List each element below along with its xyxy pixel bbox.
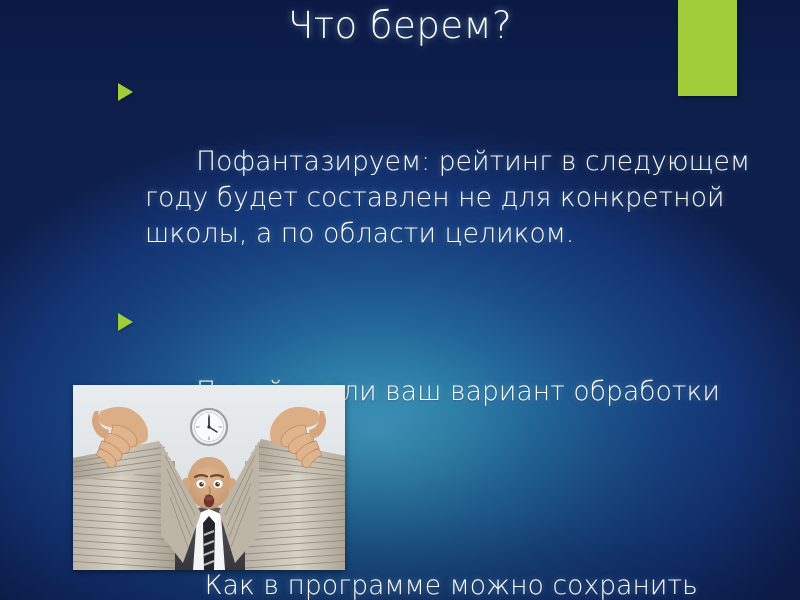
triangle-right-bullet-icon	[118, 83, 133, 101]
presentation-slide: Что берем? Пофантазируем: рейтинг в след…	[0, 0, 800, 600]
slide-title: Что берем?	[0, 4, 800, 47]
photo-illustration	[73, 385, 345, 570]
bullet-text: Как в программе можно сохранить большой …	[145, 570, 706, 600]
list-item: Пофантазируем: рейтинг в следующем году …	[112, 72, 760, 288]
man-buried-in-paper-stacks-photo	[73, 385, 345, 570]
triangle-right-bullet-icon	[118, 313, 133, 331]
bullet-text: Пофантазируем: рейтинг в следующем году …	[145, 146, 759, 249]
